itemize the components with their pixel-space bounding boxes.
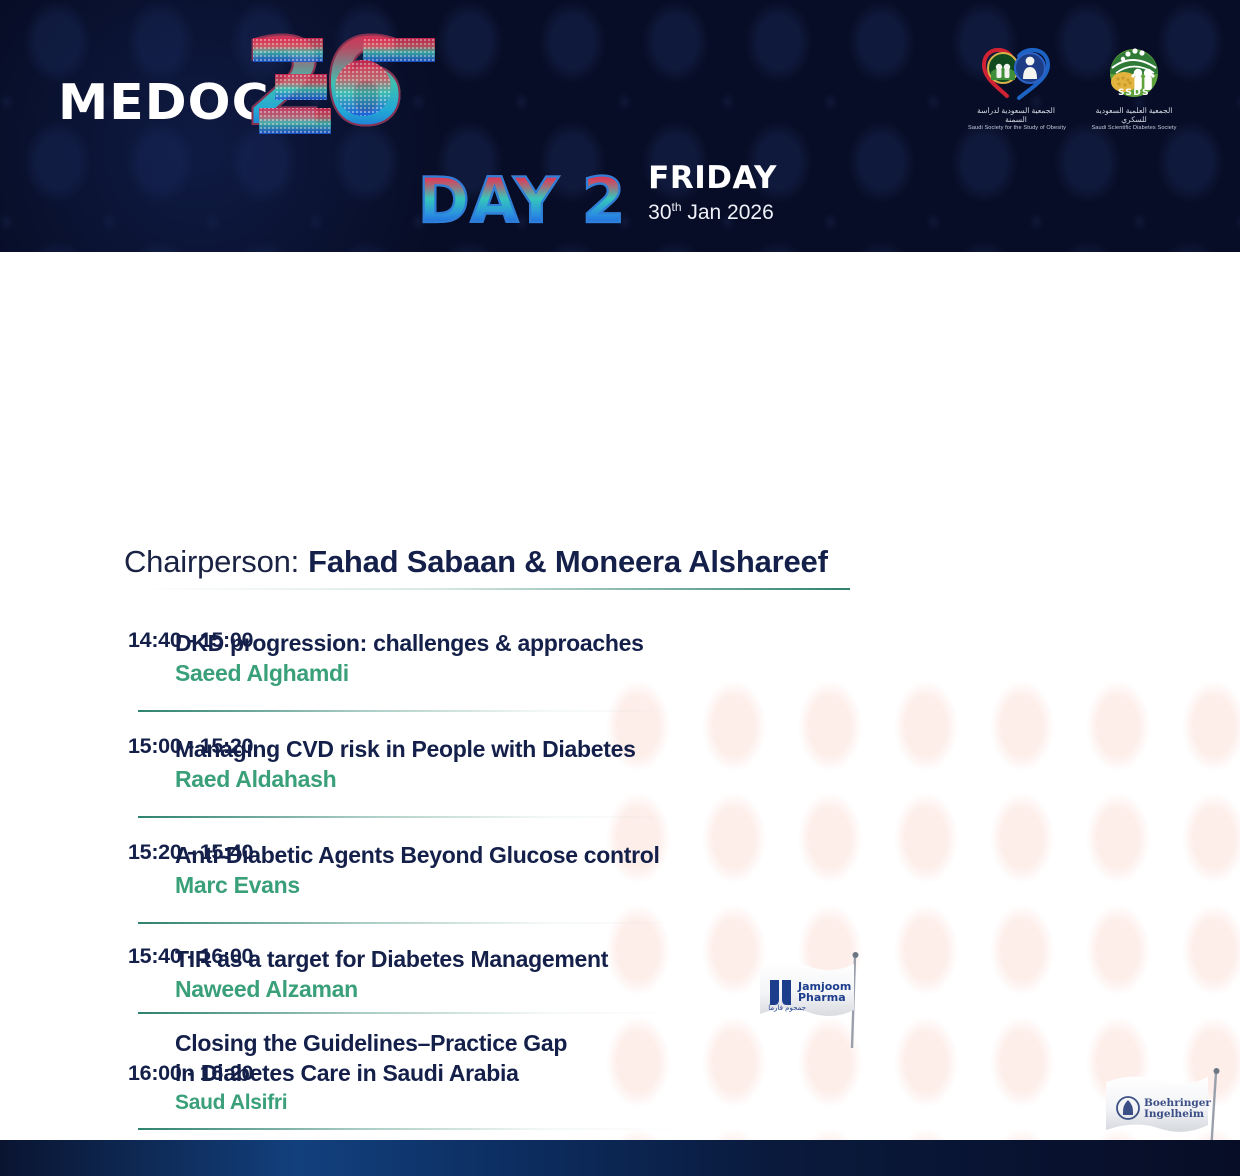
saudi-society-obesity-icon (968, 44, 1064, 106)
row-title: Anti-Diabetic Agents Beyond Glucose cont… (175, 840, 1220, 870)
agenda-list: 14:40 - 15:00 DKD progression: challenge… (0, 612, 1240, 1140)
row-time: 15:00 - 15:20 (0, 734, 175, 759)
saudi-scientific-diabetes-society-icon: SSDS (1086, 44, 1182, 106)
table-row: 16:00 - 16:20 Closing the Guidelines–Pra… (0, 1014, 1240, 1118)
society-logos: الجمعية السعودية لدراسة السمنة Saudi Soc… (968, 44, 1182, 132)
year-26-halftone (243, 26, 448, 144)
table-row: 15:00 - 15:20 Managing CVD risk in Peopl… (0, 712, 1240, 794)
medoc-wordmark: MEDOC (58, 78, 270, 127)
svg-text:SSDS: SSDS (1118, 88, 1150, 98)
row-title-line2: in Diabetes Care in Saudi Arabia (175, 1058, 1220, 1088)
row-title: TIR as a target for Diabetes Management (175, 944, 1220, 974)
date-day: 30 (648, 201, 671, 224)
medoc-logo: MEDOC (58, 78, 264, 127)
row-speaker: Marc Evans (175, 870, 1220, 900)
society-diabetes-name-ar: الجمعية العلمية السعودية للسكري (1086, 106, 1182, 124)
table-row: 14:40 - 15:00 DKD progression: challenge… (0, 612, 1240, 688)
chairperson-label: Chairperson: (124, 544, 299, 580)
day-label: DAY 2 (418, 172, 626, 230)
row-time: 15:20 - 15:40 (0, 840, 175, 865)
row-time: 14:40 - 15:00 (0, 628, 175, 653)
row-time: 15:40 - 16:00 (0, 944, 175, 969)
date-label: 30th Jan 2026 (648, 194, 777, 226)
table-row: 15:20 - 15:40 Anti-Diabetic Agents Beyon… (0, 818, 1240, 900)
agenda-content: Chairperson: Fahad Sabaan & Moneera Alsh… (0, 252, 1240, 1140)
page-footer (0, 1140, 1240, 1176)
society-diabetes-name-en: Saudi Scientific Diabetes Society (1086, 124, 1182, 132)
weekday-label: FRIDAY (648, 162, 777, 194)
date-rest: Jan 2026 (682, 201, 774, 224)
row-speaker: Raed Aldahash (175, 764, 1220, 794)
row-title-line1: Closing the Guidelines–Practice Gap (175, 1028, 1220, 1058)
table-row: 16:20 - 16:40 "Unfolding Clinical Correl… (0, 1130, 1240, 1140)
society-diabetes: SSDS الجمعية العلمية السعودية للسكري Sau… (1086, 44, 1182, 132)
chairperson-underline (138, 588, 850, 590)
table-row: 15:40 - 16:00 TIR as a target for Diabet… (0, 924, 1240, 1004)
society-obesity: الجمعية السعودية لدراسة السمنة Saudi Soc… (968, 44, 1064, 132)
society-obesity-name-en: Saudi Society for the Study of Obesity (968, 124, 1064, 132)
date-ordinal: th (672, 200, 682, 214)
society-obesity-name-ar: الجمعية السعودية لدراسة السمنة (968, 106, 1064, 124)
row-time: 16:00 - 16:20 (0, 1061, 175, 1086)
page-header: MEDOC 26 (0, 0, 1240, 252)
row-title: Managing CVD risk in People with Diabete… (175, 734, 1220, 764)
year-26-logo: 26 (243, 26, 448, 144)
row-speaker: Naweed Alzaman (175, 974, 1220, 1004)
chairperson: Chairperson: Fahad Sabaan & Moneera Alsh… (124, 544, 828, 580)
day-banner: DAY 2 FRIDAY 30th Jan 2026 (418, 162, 777, 230)
row-title: DKD progression: challenges & approaches (175, 628, 1220, 658)
chairperson-names: Fahad Sabaan & Moneera Alshareef (308, 544, 828, 580)
row-speaker: Saeed Alghamdi (175, 658, 1220, 688)
row-speaker: Saud Alsifri (175, 1088, 1220, 1118)
